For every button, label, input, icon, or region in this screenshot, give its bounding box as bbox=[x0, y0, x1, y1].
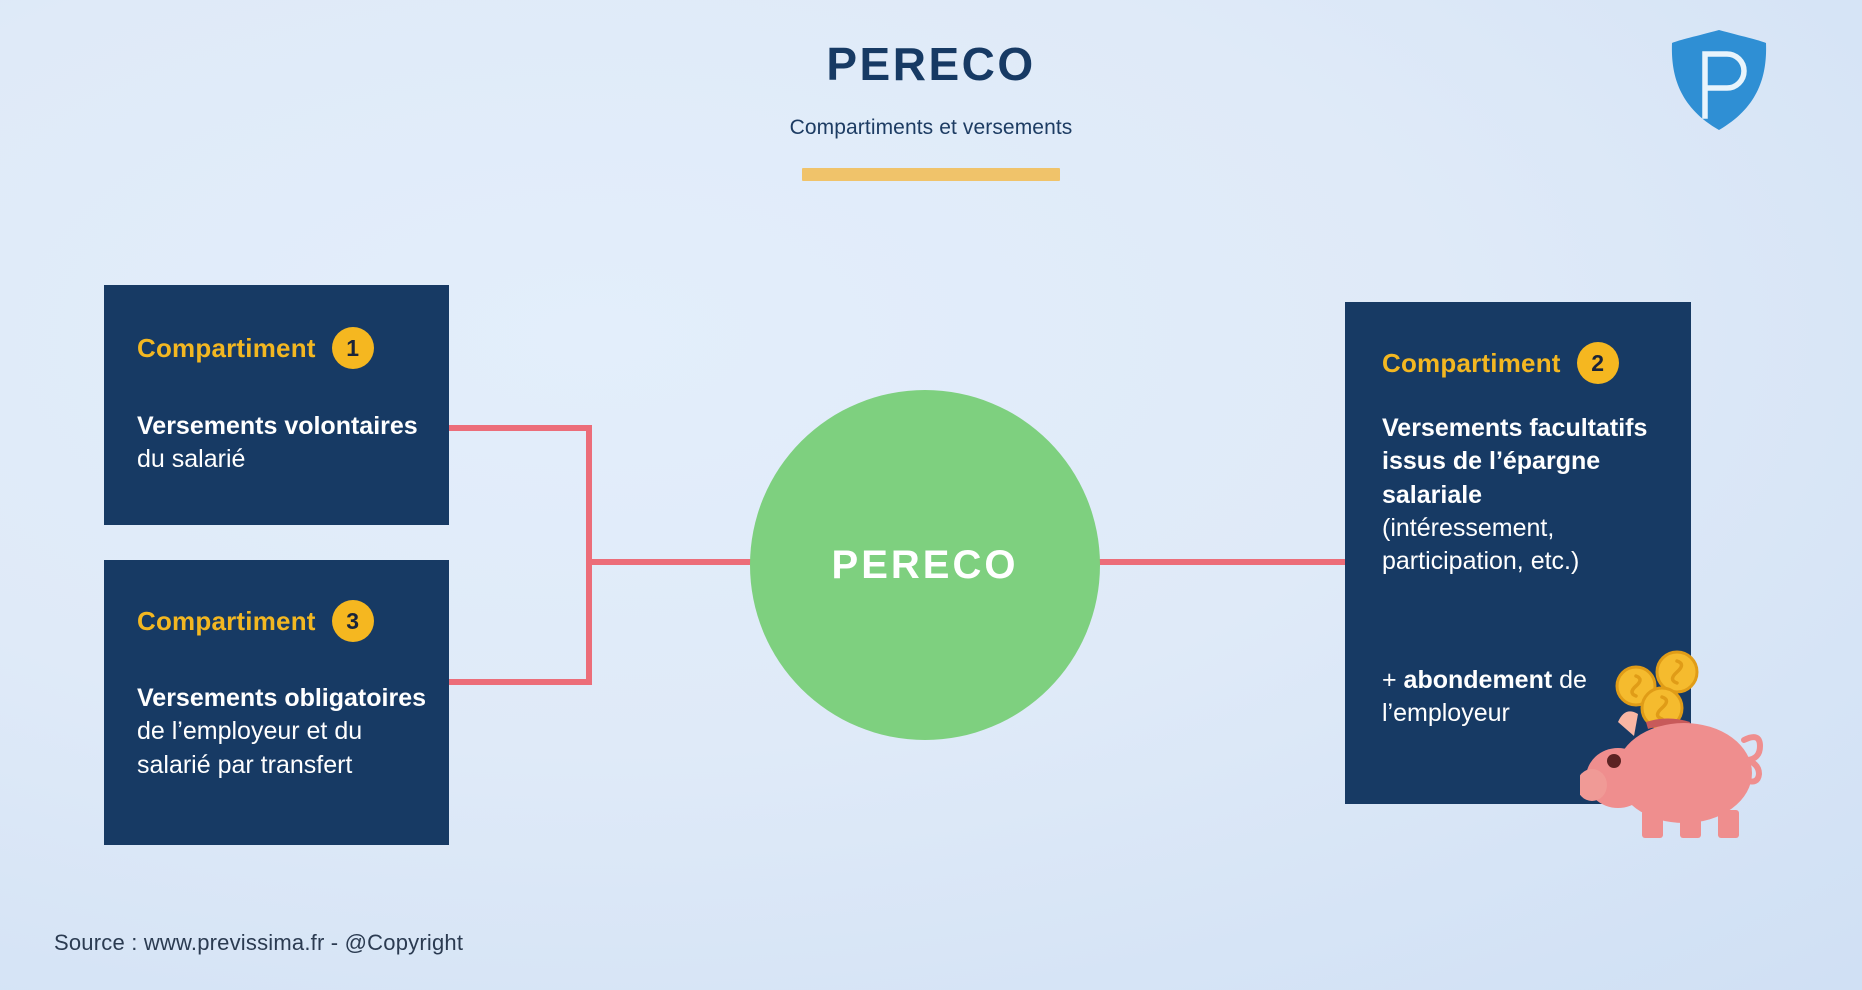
compartment-3-number-badge: 3 bbox=[332, 600, 374, 642]
coin-icon-1 bbox=[1657, 652, 1697, 692]
compartment-2-extra-prefix: + bbox=[1382, 666, 1404, 694]
compartment-1-heading: Compartiment bbox=[137, 333, 316, 364]
compartment-2-body-rest: (intéressement, participation, etc.) bbox=[1382, 514, 1579, 575]
compartment-2-heading: Compartiment bbox=[1382, 348, 1561, 379]
connector-box1-horizontal bbox=[449, 425, 592, 431]
page-subtitle: Compartiments et versements bbox=[0, 116, 1862, 140]
compartment-2-body-bold: Versements facultatifs issus de l’épargn… bbox=[1382, 414, 1647, 509]
connector-hub-to-box2 bbox=[1090, 559, 1348, 565]
compartment-1-body-bold: Versements volontaires bbox=[137, 412, 418, 440]
connector-vertical-spine bbox=[586, 425, 592, 685]
piggy-bank-with-coins bbox=[1580, 630, 1795, 845]
connector-spine-to-hub bbox=[586, 559, 766, 565]
compartment-1-header: Compartiment 1 bbox=[137, 327, 374, 369]
compartment-2-number-badge: 2 bbox=[1577, 342, 1619, 384]
infographic-canvas: PERECO Compartiments et versements Compa… bbox=[0, 0, 1862, 990]
compartment-2-body: Versements facultatifs issus de l’épargn… bbox=[1382, 412, 1657, 578]
page-title: PERECO bbox=[0, 40, 1862, 88]
pereco-hub-circle[interactable]: PERECO bbox=[750, 390, 1100, 740]
compartment-3-header: Compartiment 3 bbox=[137, 600, 374, 642]
connector-box3-horizontal bbox=[449, 679, 592, 685]
compartment-1-body: Versements volontaires du salarié bbox=[137, 410, 437, 477]
compartment-3-body: Versements obligatoires de l’employeur e… bbox=[137, 682, 442, 782]
source-credit: Source : www.previssima.fr - @Copyright bbox=[54, 930, 463, 956]
compartment-1-card[interactable]: Compartiment 1 Versements volontaires du… bbox=[104, 285, 449, 525]
compartment-3-body-rest: de l’employeur et du salarié par transfe… bbox=[137, 717, 362, 778]
compartment-3-heading: Compartiment bbox=[137, 606, 316, 637]
compartment-3-card[interactable]: Compartiment 3 Versements obligatoires d… bbox=[104, 560, 449, 845]
compartment-2-extra-bold: abondement bbox=[1404, 666, 1553, 694]
pereco-hub-label: PERECO bbox=[832, 543, 1019, 588]
title-underline-rule bbox=[802, 168, 1060, 181]
compartment-1-number-badge: 1 bbox=[332, 327, 374, 369]
previssima-shield-logo bbox=[1663, 24, 1775, 136]
compartment-3-body-bold: Versements obligatoires bbox=[137, 684, 426, 712]
compartment-1-body-rest: du salarié bbox=[137, 445, 245, 473]
compartment-2-header: Compartiment 2 bbox=[1382, 342, 1619, 384]
